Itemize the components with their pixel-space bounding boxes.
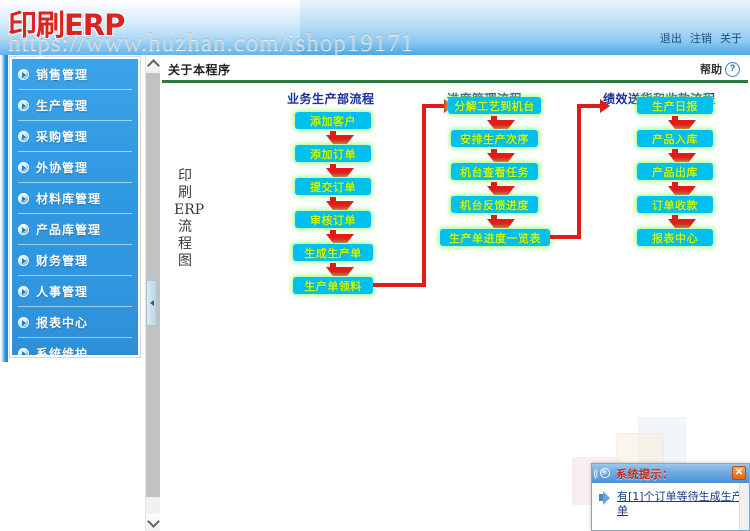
flow-step-order-payment[interactable]: 订单收款 bbox=[637, 196, 713, 213]
logout-link[interactable]: 退出 bbox=[660, 33, 682, 45]
bullet-arrow-icon bbox=[18, 224, 29, 235]
header-gradient bbox=[300, 0, 750, 55]
arrow-down-icon bbox=[487, 120, 515, 129]
flowchart-vertical-title: 印刷ERP流程图 bbox=[174, 168, 196, 270]
bullet-arrow-icon bbox=[18, 69, 29, 80]
sidebar-item-sales[interactable]: 销售管理 bbox=[18, 59, 132, 90]
notification-scrollbar[interactable] bbox=[739, 483, 749, 531]
flow-step-machine-feedback-progress[interactable]: 机台反馈进度 bbox=[451, 196, 538, 213]
sidebar-edge-accent bbox=[0, 55, 8, 362]
arrow-down-icon bbox=[668, 153, 696, 162]
notification-title: 系统提示： bbox=[616, 466, 674, 482]
sidebar-item-label: 报表中心 bbox=[36, 314, 88, 331]
notification-titlebar: 系统提示： ✕ bbox=[592, 464, 749, 483]
sidebar-item-reports[interactable]: 报表中心 bbox=[18, 307, 132, 338]
connector-col3-arrowhead bbox=[600, 99, 610, 113]
bullet-arrow-icon bbox=[18, 317, 29, 328]
flow-step-create-production-order[interactable]: 生成生产单 bbox=[293, 244, 373, 261]
question-mark-icon: ? bbox=[725, 62, 740, 77]
arrow-down-icon bbox=[487, 186, 515, 195]
arrow-down-icon bbox=[487, 219, 515, 228]
sidebar-item-hr[interactable]: 人事管理 bbox=[18, 276, 132, 307]
arrow-down-icon bbox=[668, 186, 696, 195]
sidebar-item-label: 系统维护 bbox=[36, 345, 88, 358]
sidebar-item-material-warehouse[interactable]: 材料库管理 bbox=[18, 183, 132, 214]
vertical-title-text: 印刷ERP流程图 bbox=[174, 168, 204, 269]
sidebar: 销售管理 生产管理 采购管理 外协管理 材料库管理 产品库管理 bbox=[0, 55, 147, 531]
bullet-arrow-icon bbox=[18, 255, 29, 266]
flow-step-add-customer[interactable]: 添加客户 bbox=[295, 112, 371, 129]
bullet-arrow-icon bbox=[18, 286, 29, 297]
flow-step-production-order-progress-list[interactable]: 生产单进度一览表 bbox=[440, 229, 550, 246]
sidebar-item-product-warehouse[interactable]: 产品库管理 bbox=[18, 214, 132, 245]
flow-step-report-center[interactable]: 报表中心 bbox=[637, 229, 713, 246]
arrow-down-icon bbox=[326, 234, 354, 243]
bullet-arrow-icon bbox=[18, 193, 29, 204]
flow-step-production-order-material[interactable]: 生产单领料 bbox=[293, 277, 373, 294]
arrow-down-icon bbox=[668, 219, 696, 228]
flow-step-submit-order[interactable]: 提交订单 bbox=[295, 178, 371, 195]
header-links: 退出 注销 关于 bbox=[655, 30, 742, 46]
close-icon[interactable]: ✕ bbox=[732, 466, 746, 480]
sidebar-item-label: 财务管理 bbox=[36, 252, 88, 269]
arrow-down-icon bbox=[326, 168, 354, 177]
sidebar-item-label: 销售管理 bbox=[36, 66, 88, 83]
chevron-down-icon bbox=[147, 515, 160, 528]
sidebar-item-label: 人事管理 bbox=[36, 283, 88, 300]
sidebar-menu-panel: 销售管理 生产管理 采购管理 外协管理 材料库管理 产品库管理 bbox=[10, 57, 140, 357]
help-label: 帮助 bbox=[700, 61, 722, 77]
sidebar-item-outsourcing[interactable]: 外协管理 bbox=[18, 152, 132, 183]
content-area: 关于本程序 帮助 ? 印刷ERP流程图 业务生产部流程 进度管理流程 bbox=[160, 55, 750, 531]
panel-splitter-handle[interactable] bbox=[146, 280, 157, 326]
chevron-up-icon bbox=[147, 59, 160, 72]
content-header: 关于本程序 帮助 ? bbox=[160, 55, 750, 81]
help-button[interactable]: 帮助 ? bbox=[700, 61, 740, 77]
speaker-icon bbox=[595, 467, 613, 481]
sidebar-item-label: 产品库管理 bbox=[36, 221, 101, 238]
about-link[interactable]: 关于 bbox=[720, 33, 742, 45]
signout-link[interactable]: 注销 bbox=[690, 33, 712, 45]
flow-step-product-inbound[interactable]: 产品入库 bbox=[637, 130, 713, 147]
page-title: 关于本程序 bbox=[168, 61, 231, 78]
notification-message-link[interactable]: 有[1]个订单等待生成生产单 bbox=[617, 490, 744, 518]
flow-step-add-order[interactable]: 添加订单 bbox=[295, 145, 371, 162]
flow-step-daily-production-report[interactable]: 生产日报 bbox=[637, 97, 713, 114]
sidebar-item-label: 外协管理 bbox=[36, 159, 88, 176]
sidebar-item-label: 采购管理 bbox=[36, 128, 88, 145]
sidebar-item-production[interactable]: 生产管理 bbox=[18, 90, 132, 121]
flow-step-product-outbound[interactable]: 产品出库 bbox=[637, 163, 713, 180]
flow-step-machine-view-task[interactable]: 机台查看任务 bbox=[451, 163, 538, 180]
sidebar-item-label: 生产管理 bbox=[36, 97, 88, 114]
app-logo: 印刷ERP bbox=[8, 2, 124, 44]
arrow-down-icon bbox=[487, 153, 515, 162]
flow-step-review-order[interactable]: 审核订单 bbox=[295, 211, 371, 228]
flow-step-split-process-to-machine[interactable]: 分解工艺到机台 bbox=[448, 97, 541, 114]
app-header: 印刷ERP 退出 注销 关于 bbox=[0, 0, 750, 55]
scroll-up-button[interactable] bbox=[146, 55, 161, 72]
arrow-down-icon bbox=[668, 120, 696, 129]
system-notification-popup[interactable]: 系统提示： ✕ 有[1]个订单等待生成生产单 bbox=[591, 463, 750, 531]
sidebar-item-system-maintenance[interactable]: 系统维护 bbox=[18, 338, 132, 357]
arrow-down-icon bbox=[326, 267, 354, 276]
bullet-arrow-icon bbox=[18, 348, 29, 358]
connector-col1-to-col2-horizontal bbox=[373, 283, 426, 287]
sidebar-item-label: 材料库管理 bbox=[36, 190, 101, 207]
connector-col1-to-col2-vertical bbox=[422, 104, 426, 287]
sidebar-item-purchasing[interactable]: 采购管理 bbox=[18, 121, 132, 152]
flow-step-arrange-production-sequence[interactable]: 安排生产次序 bbox=[451, 130, 538, 147]
column-heading-business: 业务生产部流程 bbox=[287, 90, 375, 107]
connector-col2-entry-horizontal bbox=[422, 104, 446, 108]
scroll-down-button[interactable] bbox=[146, 514, 161, 531]
connector-col3-entry-horizontal bbox=[577, 104, 602, 108]
connector-col2-to-col3-vertical bbox=[577, 104, 581, 239]
bullet-arrow-icon bbox=[18, 100, 29, 111]
sidebar-item-finance[interactable]: 财务管理 bbox=[18, 245, 132, 276]
arrow-down-icon bbox=[326, 201, 354, 210]
bullet-arrow-icon bbox=[18, 162, 29, 173]
arrow-down-icon bbox=[326, 135, 354, 144]
notification-body: 有[1]个订单等待生成生产单 bbox=[592, 483, 749, 518]
megaphone-icon bbox=[597, 491, 613, 505]
application-window: 印刷ERP 退出 注销 关于 https://www.huzhan.com/is… bbox=[0, 0, 750, 531]
bullet-arrow-icon bbox=[18, 131, 29, 142]
